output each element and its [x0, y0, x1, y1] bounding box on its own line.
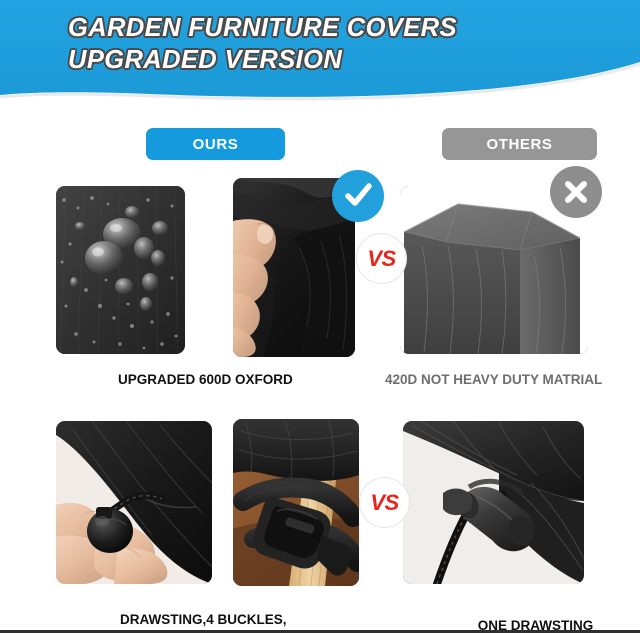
water-beading-image	[56, 186, 185, 354]
buckle-strap-image	[233, 419, 359, 586]
single-cord-lock-image	[403, 421, 584, 584]
buckle-strap-photo	[233, 419, 359, 586]
column-label-ours: OURS	[146, 128, 285, 160]
banner-curve-fill	[0, 0, 640, 97]
cross-mark-glyph	[562, 178, 590, 206]
vs-badge-top-label: VS	[367, 248, 395, 270]
ours-label-text: OURS	[193, 136, 239, 153]
caption-others-fastening: ONE DRAWSTING EASY TO BE BLOWN AWAY	[443, 600, 628, 633]
check-icon	[332, 170, 384, 222]
vs-badge-top: VS	[357, 234, 406, 283]
single-cord-lock-photo	[403, 421, 584, 584]
caption-ours-material: UPGRADED 600D OXFORD	[118, 371, 293, 388]
banner-shape	[0, 0, 640, 105]
vs-badge-bottom: VS	[360, 478, 409, 527]
cross-icon	[550, 166, 602, 218]
header-banner: GARDEN FURNITURE COVERS UPGRADED VERSION	[0, 0, 640, 105]
product-comparison-infographic: GARDEN FURNITURE COVERS UPGRADED VERSION…	[0, 0, 640, 633]
water-beading-photo	[56, 186, 185, 354]
caption-ours-fastening: DRAWSTING,4 BUCKLES,	[120, 611, 287, 628]
drawstring-toggle-photo	[56, 421, 212, 584]
vs-badge-bottom-label: VS	[370, 492, 398, 514]
others-label-text: OTHERS	[486, 136, 552, 153]
check-mark-glyph	[343, 181, 373, 211]
caption-others-material: 420D NOT HEAVY DUTY MATRIAL	[385, 371, 602, 388]
column-label-others: OTHERS	[442, 128, 597, 160]
drawstring-toggle-image	[56, 421, 212, 584]
